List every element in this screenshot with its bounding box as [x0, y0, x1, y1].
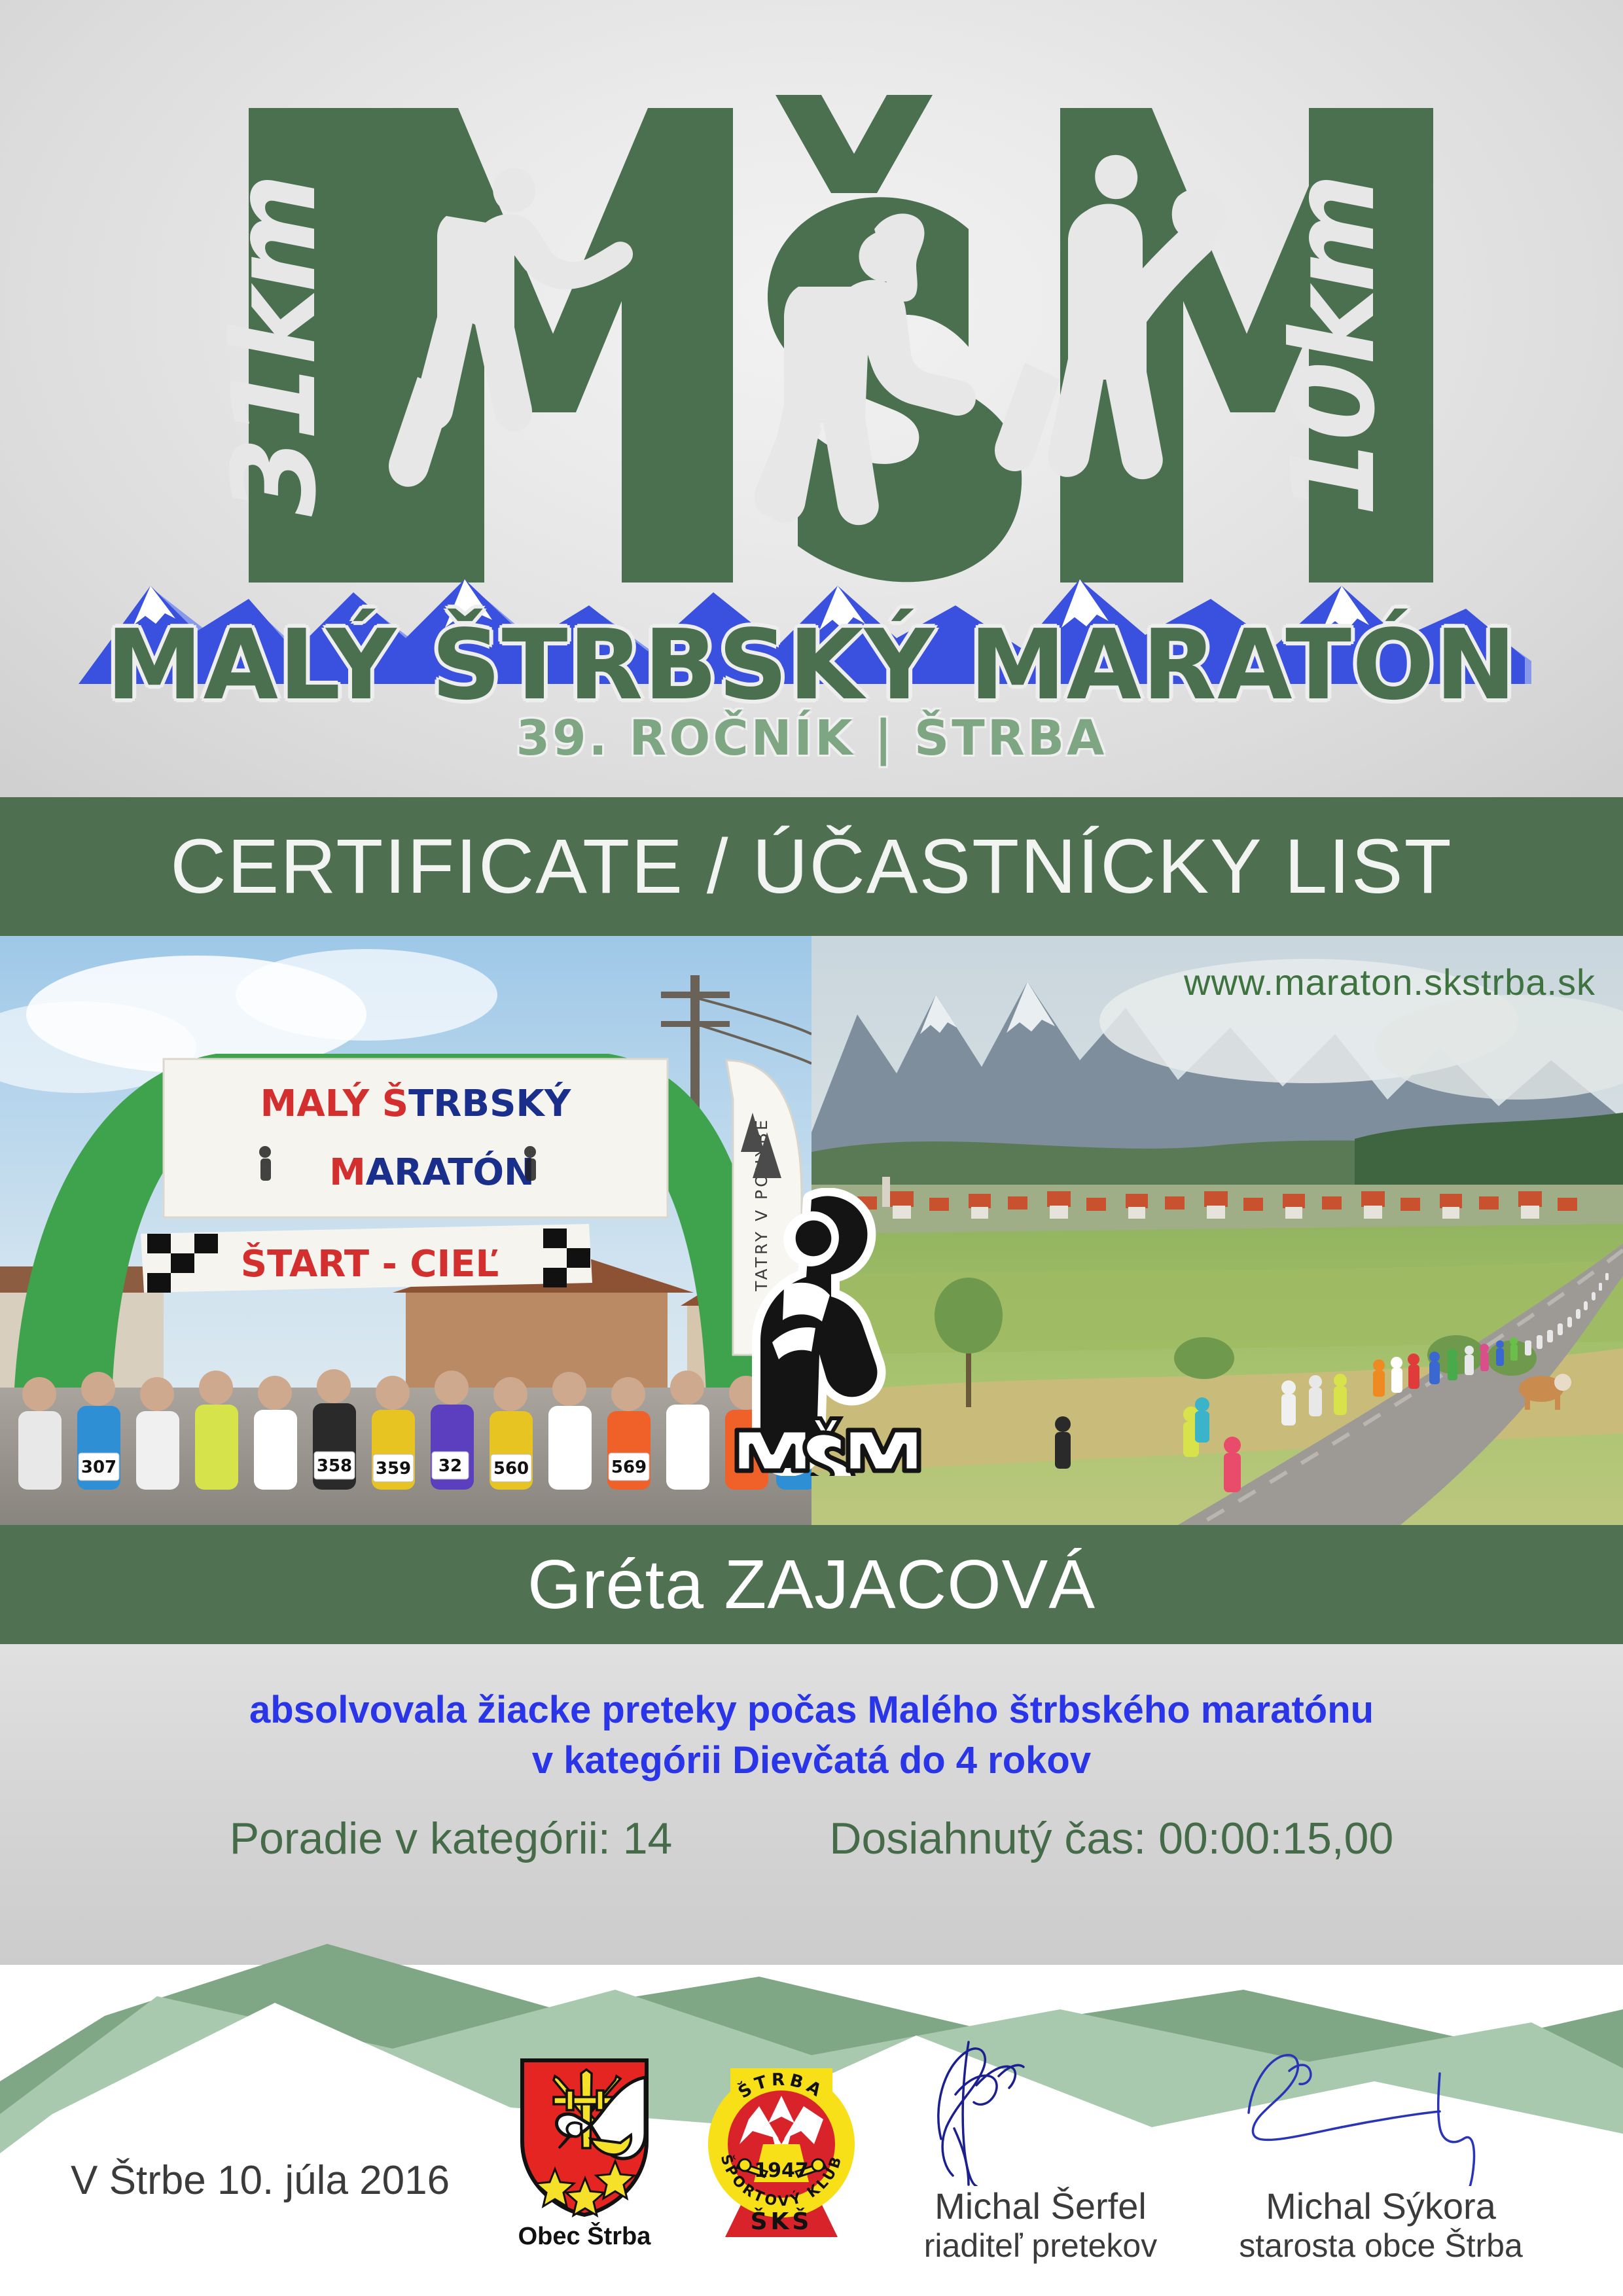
arch-line-1: MALÝ ŠTRBSKÝ [260, 1083, 572, 1125]
finish-time-label: Dosiahnutý čas: [829, 1814, 1146, 1863]
logo-header: 31km [0, 0, 1623, 797]
obec-strba-label: Obec Štrba [517, 2223, 652, 2251]
signature-mark-mayor [1211, 2036, 1551, 2186]
svg-text:31km: 31km [209, 177, 342, 516]
category-rank-value: 14 [623, 1814, 673, 1863]
finish-time: Dosiahnutý čas: 00:00:15,00 [829, 1813, 1393, 1864]
website-url: www.maraton.skstrba.sk [1184, 961, 1596, 1003]
event-subtitle: 39. ROČNÍK | ŠTRBA [0, 710, 1623, 766]
bib-number: 359 [376, 1459, 411, 1479]
distance-31km-text: 31km [209, 177, 342, 516]
signature-mark-director [870, 2036, 1211, 2186]
signature-block-mayor: Michal Sýkora starosta obce Štrba [1211, 2036, 1551, 2264]
bib-number: 569 [611, 1458, 647, 1477]
category-rank-label: Poradie v kategórii: [230, 1814, 611, 1863]
sks-ribbon-text: ŠKŠ [751, 2208, 813, 2235]
description-line-2: v kategórii Dievčatá do 4 rokov [0, 1735, 1623, 1785]
bib-number: 560 [493, 1459, 529, 1479]
category-rank: Poradie v kategórii: 14 [230, 1813, 673, 1864]
certificate-page: 31km [0, 0, 1623, 2296]
bib-number: 307 [81, 1458, 116, 1477]
issue-date: V Štrbe 10. júla 2016 [71, 2157, 450, 2204]
sks-club-logo: 1947 ŠTRBA ŠPORTOVÝ KLUB ŠKŠ [699, 2046, 864, 2240]
arch-line-3: ŠTART - CIEĽ [241, 1243, 499, 1285]
bib-number: 358 [317, 1456, 352, 1476]
photo-race-start: MALÝ ŠTRBSKÝ MARATÓN [0, 936, 811, 1525]
mayor-name: Michal Sýkora [1211, 2186, 1551, 2227]
bib-number: 32 [438, 1456, 462, 1476]
director-name: Michal Šerfel [870, 2186, 1211, 2227]
result-body: absolvovala žiacke preteky počas Malého … [0, 1644, 1623, 1965]
signature-block-director: Michal Šerfel riaditeľ pretekov [870, 2036, 1211, 2264]
distance-10km-text: 10km [1268, 177, 1400, 516]
svg-text:10km: 10km [1268, 177, 1400, 516]
certificate-banner: CERTIFICATE / ÚČASTNÍCKY LIST [0, 797, 1623, 936]
msm-wordmark-graphic: 31km [0, 39, 1623, 583]
arch-line-2: MARATÓN [329, 1151, 535, 1194]
participant-name-banner: Gréta ZAJACOVÁ [0, 1525, 1623, 1644]
results-row: Poradie v kategórii: 14 Dosiahnutý čas: … [0, 1813, 1623, 1864]
obec-strba-crest: Obec Štrba [517, 2056, 652, 2253]
msm-runner-emblem [733, 1188, 923, 1476]
sks-year: 1947 [754, 2159, 809, 2182]
certificate-footer: V Štrbe 10. júla 2016 [0, 2029, 1623, 2296]
description-line-1: absolvovala žiacke preteky počas Malého … [0, 1685, 1623, 1735]
mayor-role: starosta obce Štrba [1211, 2227, 1551, 2264]
director-role: riaditeľ pretekov [870, 2227, 1211, 2264]
participant-name: Gréta ZAJACOVÁ [527, 1545, 1096, 1624]
certificate-banner-text: CERTIFICATE / ÚČASTNÍCKY LIST [170, 822, 1452, 911]
event-title: MALÝ ŠTRBSKÝ MARATÓN [0, 609, 1623, 721]
finish-time-value: 00:00:15,00 [1158, 1814, 1393, 1863]
achievement-description: absolvovala žiacke preteky počas Malého … [0, 1685, 1623, 1785]
photo-race-landscape: www.maraton.skstrba.sk [811, 936, 1623, 1525]
